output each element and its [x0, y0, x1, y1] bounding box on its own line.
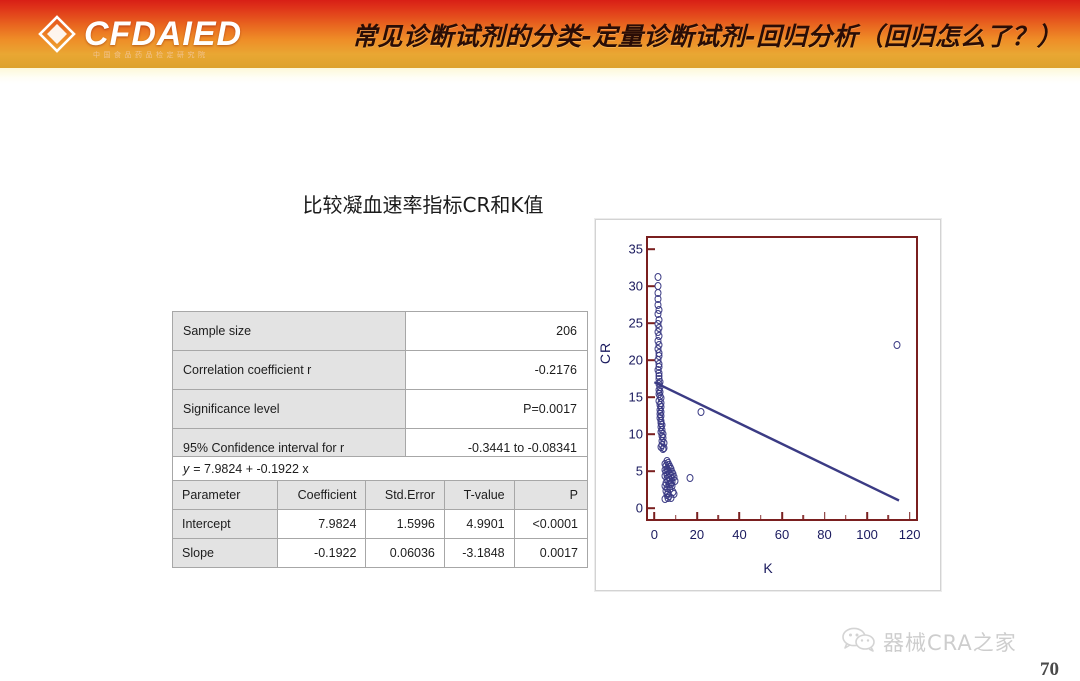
y-tick-label: 20: [629, 353, 643, 368]
y-tick-label: 10: [629, 426, 643, 441]
logo-subtitle: 中国食品药品检定研究院: [93, 50, 209, 60]
plot-area: 05101520253035020406080100120: [646, 236, 918, 521]
col-header-p: P: [514, 481, 587, 510]
row-label: Sample size: [173, 312, 406, 351]
y-tick-label: 15: [629, 389, 643, 404]
x-tick-mark: [781, 512, 783, 519]
table-row: Intercept 7.9824 1.5996 4.9901 <0.0001: [173, 510, 588, 539]
logo-wordmark: CFDAIED: [84, 17, 242, 51]
page-number: 70: [1040, 659, 1059, 681]
y-tick-mark: [648, 433, 655, 435]
x-tick-mark: [866, 512, 868, 519]
wechat-icon: [842, 627, 876, 657]
x-tick-mark-minor: [888, 515, 890, 519]
cell-parameter: Slope: [173, 539, 278, 568]
x-axis-label: K: [596, 560, 940, 576]
scatter-point: [893, 341, 900, 349]
y-tick-mark: [648, 470, 655, 472]
table-caption: 比较凝血速率指标CR和K值: [258, 189, 588, 218]
scatter-point: [687, 474, 694, 482]
scatter-point: [654, 273, 661, 281]
col-header-parameter: Parameter: [173, 481, 278, 510]
x-tick-label: 80: [817, 527, 831, 542]
y-tick-mark: [648, 248, 655, 250]
cell-std-error: 1.5996: [366, 510, 444, 539]
row-value: -0.2176: [406, 351, 588, 390]
y-tick-label: 25: [629, 316, 643, 331]
y-tick-mark: [648, 396, 655, 398]
equation-text: = 7.9824 + -0.1922 x: [193, 462, 308, 476]
x-tick-label: 60: [775, 527, 789, 542]
y-tick-label: 5: [636, 463, 643, 478]
equation-y-symbol: y: [183, 462, 189, 476]
scatter-point: [697, 408, 704, 416]
parameter-table-head: Parameter Coefficient Std.Error T-value …: [173, 481, 588, 510]
y-tick-label: 30: [629, 279, 643, 294]
table-header-row: Parameter Coefficient Std.Error T-value …: [173, 481, 588, 510]
x-tick-mark: [909, 512, 911, 519]
row-value: P=0.0017: [406, 390, 588, 429]
table-row: Slope -0.1922 0.06036 -3.1848 0.0017: [173, 539, 588, 568]
slide-title: 常见诊断试剂的分类-定量诊断试剂-回归分析（回归怎么了？）: [352, 14, 1072, 56]
x-tick-mark-minor: [802, 515, 804, 519]
scatter-chart-panel: CR K 05101520253035020406080100120: [595, 219, 941, 591]
x-tick-label: 40: [732, 527, 746, 542]
x-tick-mark: [696, 512, 698, 519]
summary-table: Sample size 206 Correlation coefficient …: [172, 311, 588, 468]
cell-t-value: 4.9901: [444, 510, 514, 539]
x-tick-mark-minor: [845, 515, 847, 519]
diamond-icon: [36, 13, 78, 55]
x-tick-label: 20: [690, 527, 704, 542]
scatter-point: [671, 490, 678, 498]
row-label: Correlation coefficient r: [173, 351, 406, 390]
cell-p: <0.0001: [514, 510, 587, 539]
col-header-coefficient: Coefficient: [278, 481, 366, 510]
y-tick-mark: [648, 507, 655, 509]
table-row: Sample size 206: [173, 312, 588, 351]
x-tick-mark-minor: [717, 515, 719, 519]
y-axis-label: CR: [597, 342, 613, 364]
regression-equation: y = 7.9824 + -0.1922 x: [172, 456, 588, 480]
x-tick-mark-minor: [675, 515, 677, 519]
row-label: Significance level: [173, 390, 406, 429]
parameter-table-body: Intercept 7.9824 1.5996 4.9901 <0.0001 S…: [173, 510, 588, 568]
cell-t-value: -3.1848: [444, 539, 514, 568]
header-accent-strip: [0, 68, 1080, 84]
cell-parameter: Intercept: [173, 510, 278, 539]
x-tick-mark: [739, 512, 741, 519]
col-header-std-error: Std.Error: [366, 481, 444, 510]
y-tick-label: 35: [629, 242, 643, 257]
watermark-text: 器械CRA之家: [883, 627, 1017, 657]
cell-p: 0.0017: [514, 539, 587, 568]
app-header: CFDAIED 中国食品药品检定研究院 常见诊断试剂的分类-定量诊断试剂-回归分…: [0, 0, 1080, 68]
x-tick-mark-minor: [760, 515, 762, 519]
parameter-table: Parameter Coefficient Std.Error T-value …: [172, 480, 588, 568]
summary-table-body: Sample size 206 Correlation coefficient …: [173, 312, 588, 468]
row-value: 206: [406, 312, 588, 351]
col-header-t-value: T-value: [444, 481, 514, 510]
slide-body: 比较凝血速率指标CR和K值 Sample size 206 Correlatio…: [0, 84, 1080, 607]
y-tick-label: 0: [636, 500, 643, 515]
x-tick-mark: [824, 512, 826, 519]
x-tick-mark: [654, 512, 656, 519]
scatter-point: [659, 445, 666, 453]
watermark: 器械CRA之家: [842, 627, 1017, 657]
x-tick-label: 100: [856, 527, 878, 542]
cell-coefficient: -0.1922: [278, 539, 366, 568]
cell-coefficient: 7.9824: [278, 510, 366, 539]
x-tick-label: 120: [899, 527, 921, 542]
x-tick-label: 0: [651, 527, 658, 542]
brand-logo: CFDAIED: [36, 13, 242, 55]
table-row: Significance level P=0.0017: [173, 390, 588, 429]
table-row: Correlation coefficient r -0.2176: [173, 351, 588, 390]
cell-std-error: 0.06036: [366, 539, 444, 568]
